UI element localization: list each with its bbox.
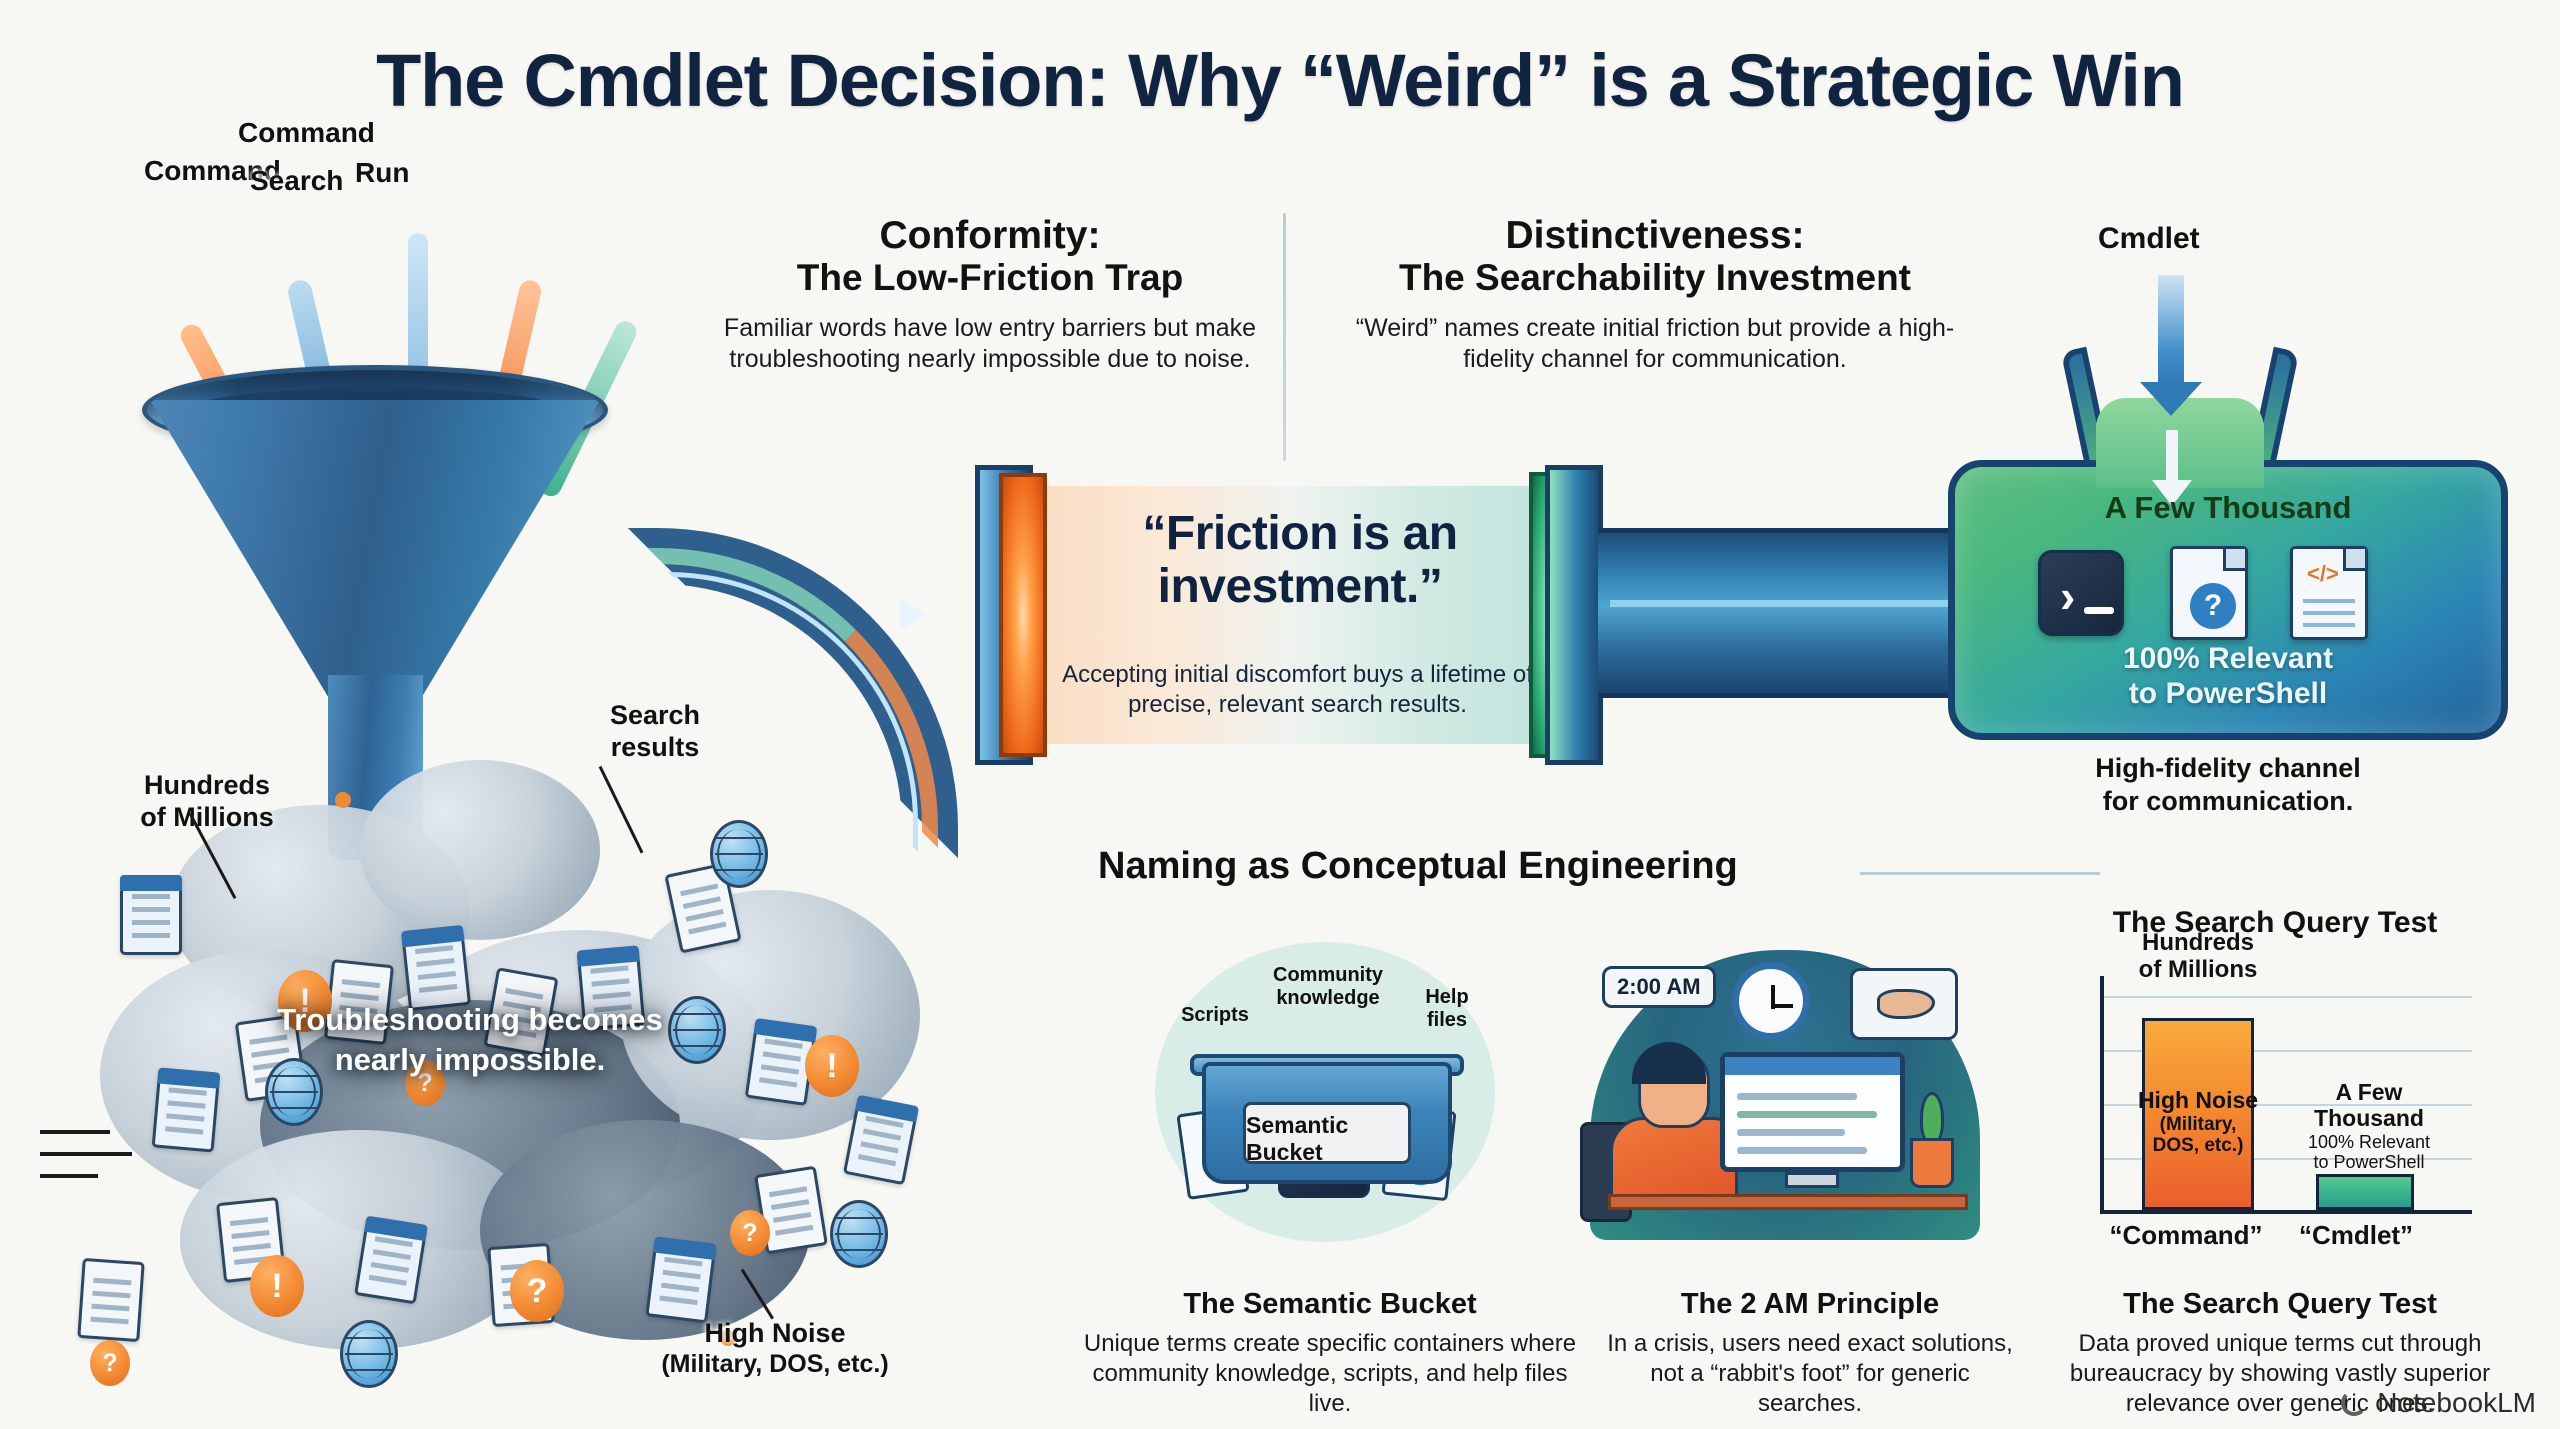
- bottle-relevance-label: 100% Relevant to PowerShell: [1948, 642, 2508, 712]
- callout-hundreds-line1: Hundreds: [92, 770, 322, 802]
- notebooklm-logo-icon: [2341, 1390, 2367, 1416]
- conformity-body: Familiar words have low entry barriers b…: [700, 313, 1280, 376]
- rabbits-foot-icon: [1877, 989, 1935, 1019]
- callout-hundreds-line2: of Millions: [92, 802, 322, 834]
- two-am-principle-illustration: 2:00 AM: [1580, 942, 2000, 1257]
- chart-bar-a-value-label: Hundreds of Millions: [2118, 930, 2278, 984]
- chart-gridline: [2104, 996, 2472, 998]
- noise-caption: Troubleshooting becomes nearly impossibl…: [230, 1000, 710, 1081]
- quote-text: “Friction is an investment.”: [1040, 508, 1560, 614]
- infographic-canvas: The Cmdlet Decision: Why “Weird” is a St…: [0, 0, 2560, 1429]
- pipe-sheen: [668, 572, 918, 852]
- cmdlet-secondary-arrow-icon: [2166, 430, 2178, 485]
- card-semantic-bucket: The Semantic Bucket Unique terms create …: [1070, 1288, 1590, 1420]
- bottle-caption-line2: for communication.: [1948, 785, 2508, 818]
- chart-bar-b-annotation-sub2: to PowerShell: [2296, 1152, 2442, 1172]
- bottle-relevance-line1: 100% Relevant: [1948, 642, 2508, 677]
- chart-bar-a-annotation: High Noise (Military, DOS, etc.): [2136, 1088, 2260, 1156]
- card-two-am-principle: The 2 AM Principle In a crisis, users ne…: [1600, 1288, 2020, 1420]
- label-help-line2: files: [1402, 1009, 1492, 1032]
- funnel-input-label-2: Run: [355, 157, 409, 189]
- section2-title: Naming as Conceptual Engineering: [1098, 845, 1738, 888]
- callout-high-noise-sub: (Military, DOS, etc.): [640, 1350, 910, 1380]
- monitor-icon: [1720, 1052, 1905, 1172]
- chart-bar-b-annotation: A Few Thousand 100% Relevant to PowerShe…: [2296, 1080, 2442, 1172]
- cmdlet-inflow-arrowhead-icon: [2140, 382, 2202, 416]
- distinctiveness-body: “Weird” names create initial friction bu…: [1330, 313, 1980, 376]
- distinctiveness-section: Distinctiveness: The Searchability Inves…: [1330, 215, 1980, 376]
- distinctiveness-heading-line1: Distinctiveness:: [1330, 215, 1980, 257]
- chart-x-axis: [2100, 1210, 2472, 1214]
- bottle-relevance-line2: to PowerShell: [1948, 677, 2508, 712]
- chart-plot-area: Hundreds of Millions High Noise (Militar…: [2100, 976, 2472, 1214]
- label-community-line1: Community: [1258, 964, 1398, 987]
- search-query-test-chart: The Search Query Test Hundreds of Millio…: [2060, 920, 2490, 1260]
- callout-high-noise: High Noise (Military, DOS, etc.): [640, 1318, 910, 1379]
- plant-pot-icon: [1910, 1138, 1954, 1188]
- rabbits-foot-bubble: [1850, 968, 1958, 1040]
- cmdlet-inflow-arrow-icon: [2158, 275, 2184, 387]
- quote-subtext: Accepting initial discomfort buys a life…: [1025, 660, 1570, 720]
- chart-xtick-command: “Command”: [2106, 1220, 2266, 1251]
- bottle-capacity-label: A Few Thousand: [1948, 490, 2508, 526]
- card-title: The Semantic Bucket: [1070, 1288, 1590, 1321]
- bucket-tag-line1: Semantic: [1246, 1112, 1408, 1139]
- chart-bar-a-annotation-sub1: (Military,: [2136, 1114, 2260, 1135]
- conformity-heading-line1: Conformity:: [700, 215, 1280, 257]
- page-title: The Cmdlet Decision: Why “Weird” is a St…: [0, 38, 2560, 123]
- section-divider: [1283, 213, 1286, 461]
- section2-rule: [1860, 872, 2100, 875]
- time-bubble: 2:00 AM: [1602, 966, 1716, 1008]
- label-community-knowledge: Community knowledge: [1258, 964, 1398, 1010]
- card-title: The Search Query Test: [2040, 1288, 2520, 1321]
- label-scripts: Scripts: [1160, 1004, 1270, 1027]
- notebooklm-watermark: NotebookLM: [2341, 1387, 2536, 1419]
- callout-hundreds-of-millions: Hundreds of Millions: [92, 770, 322, 834]
- chart-bar-cmdlet: [2316, 1174, 2414, 1210]
- bottle-input-label: Cmdlet: [2098, 222, 2200, 256]
- conformity-section: Conformity: The Low-Friction Trap Famili…: [700, 215, 1280, 376]
- chart-xtick-cmdlet: “Cmdlet”: [2276, 1220, 2436, 1251]
- card-title: The 2 AM Principle: [1600, 1288, 2020, 1321]
- pipe-flow-arrow-icon: [900, 598, 926, 630]
- funnel-cone: [150, 400, 600, 700]
- notebooklm-label: NotebookLM: [2377, 1387, 2536, 1419]
- noise-caption-line1: Troubleshooting becomes: [230, 1000, 710, 1040]
- label-help-files: Help files: [1402, 986, 1492, 1032]
- bucket-tag: Semantic Bucket: [1243, 1102, 1411, 1164]
- clock-icon: [1732, 962, 1810, 1040]
- lens-green-ring: [1545, 465, 1603, 765]
- chart-bar-a-value-line1: Hundreds: [2118, 930, 2278, 957]
- bottle-caption-line1: High-fidelity channel: [1948, 752, 2508, 785]
- noise-caption-line2: nearly impossible.: [230, 1040, 710, 1080]
- plant-leaf-icon: [1920, 1092, 1944, 1144]
- card-body: Unique terms create specific containers …: [1070, 1329, 1590, 1420]
- powershell-icon: ›: [2038, 550, 2124, 636]
- monitor-stand: [1785, 1172, 1839, 1188]
- chart-bar-a-annotation-sub2: DOS, etc.): [2136, 1135, 2260, 1156]
- chart-bar-a-annotation-title: High Noise: [2136, 1088, 2260, 1114]
- chart-bar-b-annotation-title1: A Few: [2296, 1080, 2442, 1106]
- label-help-line1: Help: [1402, 986, 1492, 1009]
- conformity-heading-line2: The Low-Friction Trap: [700, 257, 1280, 298]
- label-community-line2: knowledge: [1258, 987, 1398, 1010]
- bucket-tag-line2: Bucket: [1246, 1139, 1408, 1166]
- distinctiveness-heading-line2: The Searchability Investment: [1330, 257, 1980, 298]
- chart-bar-b-annotation-title2: Thousand: [2296, 1106, 2442, 1132]
- bottle-caption: High-fidelity channel for communication.: [1948, 752, 2508, 819]
- semantic-bucket-illustration: › ? Semantic Bucket Scripts Community kn…: [1130, 942, 1530, 1257]
- script-file-icon: </>: [2290, 546, 2368, 640]
- chart-y-axis: [2100, 976, 2104, 1214]
- callout-high-noise-title: High Noise: [640, 1318, 910, 1350]
- help-file-icon: ?: [2170, 546, 2248, 640]
- funnel-input-label-3: Search: [250, 165, 343, 197]
- funnel-input-label-1: Command: [238, 117, 375, 149]
- card-body: In a crisis, users need exact solutions,…: [1600, 1329, 2020, 1420]
- quote-line1: “Friction is an: [1040, 508, 1560, 561]
- quote-line2: investment.”: [1040, 561, 1560, 614]
- chart-bar-b-annotation-sub1: 100% Relevant: [2296, 1132, 2442, 1152]
- chart-bar-a-value-line2: of Millions: [2118, 957, 2278, 984]
- desk: [1608, 1194, 1968, 1210]
